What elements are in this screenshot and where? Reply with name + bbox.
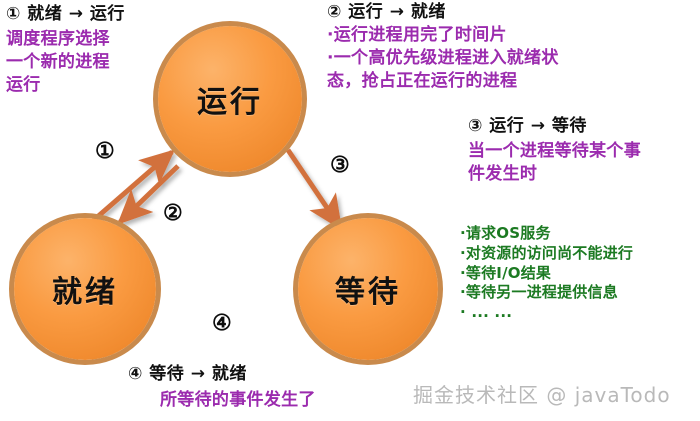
- arrow-number-2: ②: [163, 200, 183, 226]
- arrow-number-3: ③: [330, 152, 350, 178]
- node-waiting-label: 等待: [335, 267, 401, 311]
- node-running[interactable]: 运行: [158, 26, 302, 172]
- arrow-number-4: ④: [212, 310, 232, 336]
- node-waiting[interactable]: 等待: [298, 218, 438, 360]
- arrow-number-1: ①: [95, 138, 115, 164]
- node-ready-label: 就绪: [52, 267, 118, 311]
- node-running-label: 运行: [197, 77, 263, 121]
- diagram-canvas: 运行 就绪 等待 ① ② ③ ④ ① 就绪 → 运行 调度程序选择 一个新的进程…: [0, 0, 700, 421]
- watermark: 掘金技术社区 @ javaTodo: [413, 379, 671, 408]
- node-ready[interactable]: 就绪: [14, 218, 156, 360]
